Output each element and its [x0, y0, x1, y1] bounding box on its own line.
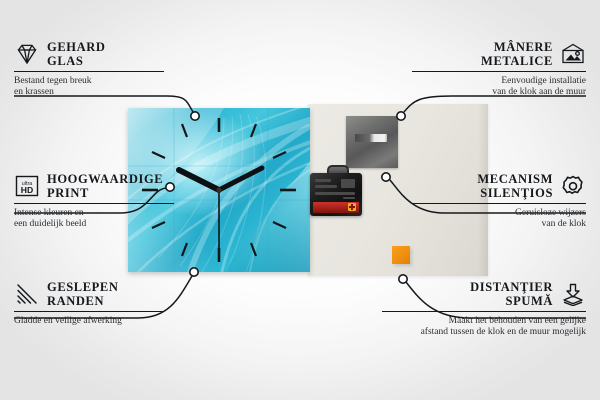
divider: [412, 203, 586, 204]
feature-header: MECANISMSILENŢIOS: [406, 172, 586, 200]
feature-metal-handles: MÂNEREMETALICE Eenvoudige installatievan…: [406, 40, 586, 99]
feature-title: MÂNEREMETALICE: [481, 40, 553, 68]
feature-title: DISTANŢIERSPUMĂ: [470, 280, 553, 308]
divider: [14, 71, 164, 72]
ultra-hd-icon: ultra HD: [14, 174, 40, 198]
svg-text:HD: HD: [21, 185, 33, 195]
feature-title: GEHARDGLAS: [47, 40, 105, 68]
infographic-canvas: GEHARDGLAS Bestand tegen breuken krassen…: [0, 0, 600, 400]
feature-foam-spacer: DISTANŢIERSPUMĂ Maakt het behouden van e…: [376, 280, 586, 339]
press-down-layers-icon: [560, 282, 586, 306]
feature-header: DISTANŢIERSPUMĂ: [376, 280, 586, 308]
connector-dot: [397, 112, 405, 120]
feature-desc: Geruisloze wijzersvan de klok: [406, 208, 586, 231]
beveled-edges-icon: [14, 282, 40, 306]
feature-header: ultra HD HOOGWAARDIGEPRINT: [14, 172, 204, 200]
feature-silent-mechanism: MECANISMSILENŢIOS Geruisloze wijzersvan …: [406, 172, 586, 231]
feature-desc: Intense kleuren eneen duidelijk beeld: [14, 208, 204, 231]
connector-dot: [191, 112, 199, 120]
feature-desc: Bestand tegen breuken krassen: [14, 76, 194, 99]
picture-frame-icon: [560, 42, 586, 66]
connector-dot: [382, 173, 390, 181]
feature-desc: Gladde en veilige afwerking: [14, 316, 194, 328]
feature-tempered-glass: GEHARDGLAS Bestand tegen breuken krassen: [14, 40, 194, 99]
divider: [14, 203, 174, 204]
feature-title: HOOGWAARDIGEPRINT: [47, 172, 163, 200]
feature-desc: Eenvoudige installatievan de klok aan de…: [406, 76, 586, 99]
feature-desc: Maakt het behouden van een gelijkeafstan…: [376, 316, 586, 339]
feature-title: GESLEPENRANDEN: [47, 280, 119, 308]
feature-header: GESLEPENRANDEN: [14, 280, 194, 308]
divider: [382, 311, 586, 312]
feature-header: GEHARDGLAS: [14, 40, 194, 68]
feature-high-quality-print: ultra HD HOOGWAARDIGEPRINT Intense kleur…: [14, 172, 204, 231]
feature-header: MÂNEREMETALICE: [406, 40, 586, 68]
connector-dot: [190, 268, 198, 276]
divider: [412, 71, 586, 72]
diamond-icon: [14, 42, 40, 66]
divider: [14, 311, 164, 312]
feature-polished-edges: GESLEPENRANDEN Gladde en veilige afwerki…: [14, 280, 194, 327]
gear-icon: [560, 174, 586, 198]
feature-title: MECANISMSILENŢIOS: [477, 172, 553, 200]
